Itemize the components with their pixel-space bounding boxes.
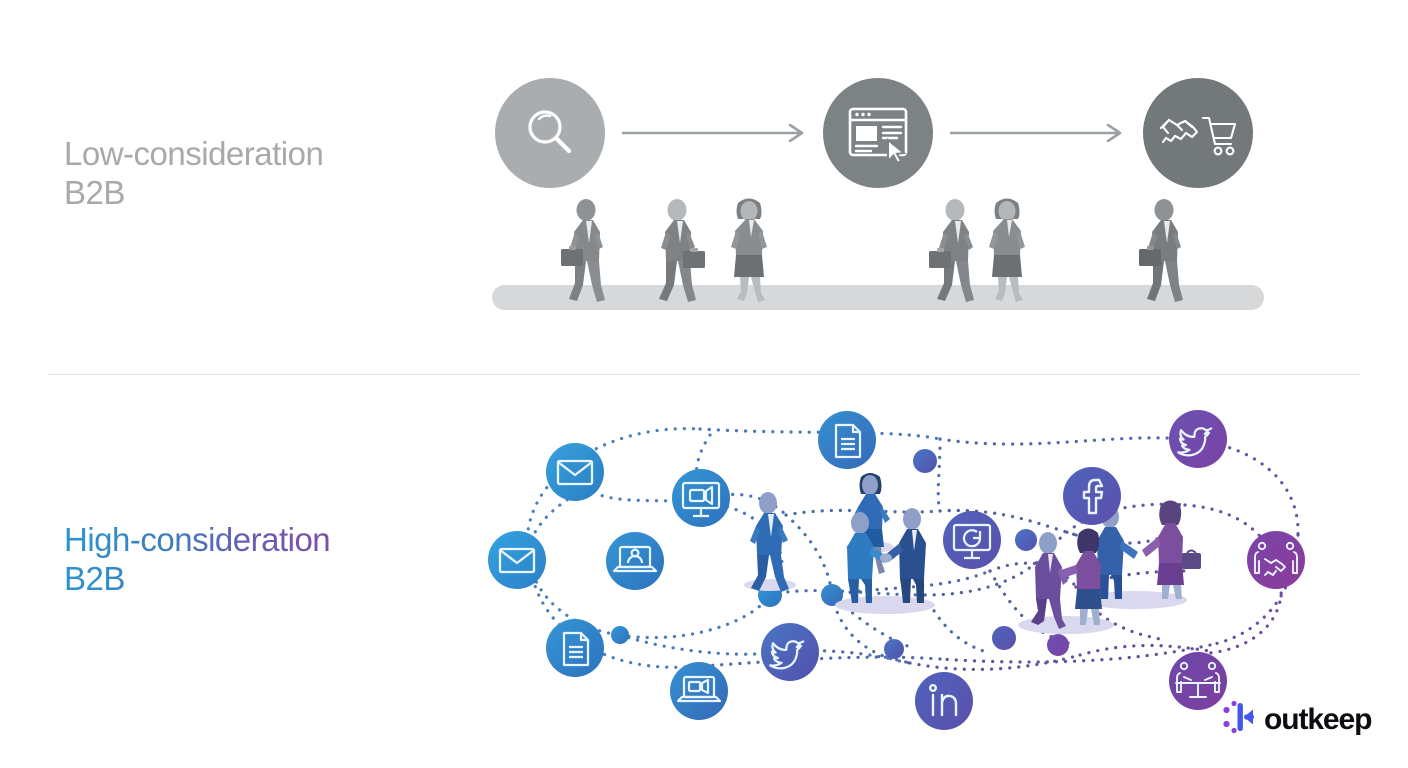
- outkeep-wordmark: outkeep: [1264, 705, 1371, 735]
- node-meeting: [1169, 652, 1227, 710]
- node-email-2: [488, 531, 546, 589]
- node-webinar: [943, 511, 1001, 569]
- section-divider: [48, 374, 1360, 375]
- network-handshake-pair-left: [835, 508, 935, 614]
- node-laptop-user: [606, 532, 664, 590]
- walking-person-4: [925, 199, 987, 303]
- magnifier-icon: [521, 104, 579, 162]
- node-twitter-2: [1169, 410, 1227, 468]
- funnel-step-search: [495, 78, 605, 188]
- arrow-right-icon-1: [622, 124, 808, 142]
- node-twitter-1: [761, 623, 819, 681]
- walking-person-2: [647, 199, 709, 303]
- walking-person-1: [553, 199, 619, 303]
- outkeep-logo: outkeep: [1222, 699, 1371, 740]
- walking-person-3: [722, 197, 776, 303]
- node-video-call: [672, 469, 730, 527]
- slide-canvas: Low-consideration B2B: [0, 0, 1408, 768]
- node-email-1: [546, 443, 604, 501]
- high-consideration-heading: High-consideration B2B: [64, 521, 330, 599]
- walking-person-6: [1131, 199, 1197, 303]
- funnel-step-website: [823, 78, 933, 188]
- network-person-walking-man-left: [744, 492, 796, 592]
- node-facebook: [1063, 467, 1121, 525]
- arrow-right-icon-2: [950, 124, 1126, 142]
- low-consideration-heading: Low-consideration B2B: [64, 135, 323, 213]
- walking-person-5: [980, 197, 1034, 303]
- node-document-2: [818, 411, 876, 469]
- node-handshake: [1247, 531, 1305, 589]
- node-laptop-video: [670, 662, 728, 720]
- node-linkedin: [915, 672, 973, 730]
- funnel-step-purchase: [1143, 78, 1253, 188]
- handshake-cart-icon: [1159, 108, 1237, 158]
- outkeep-burst-icon: [1222, 699, 1256, 740]
- node-document-1: [546, 619, 604, 677]
- browser-window-cursor-icon: [847, 104, 909, 162]
- b2b-network-diagram: [470, 395, 1340, 735]
